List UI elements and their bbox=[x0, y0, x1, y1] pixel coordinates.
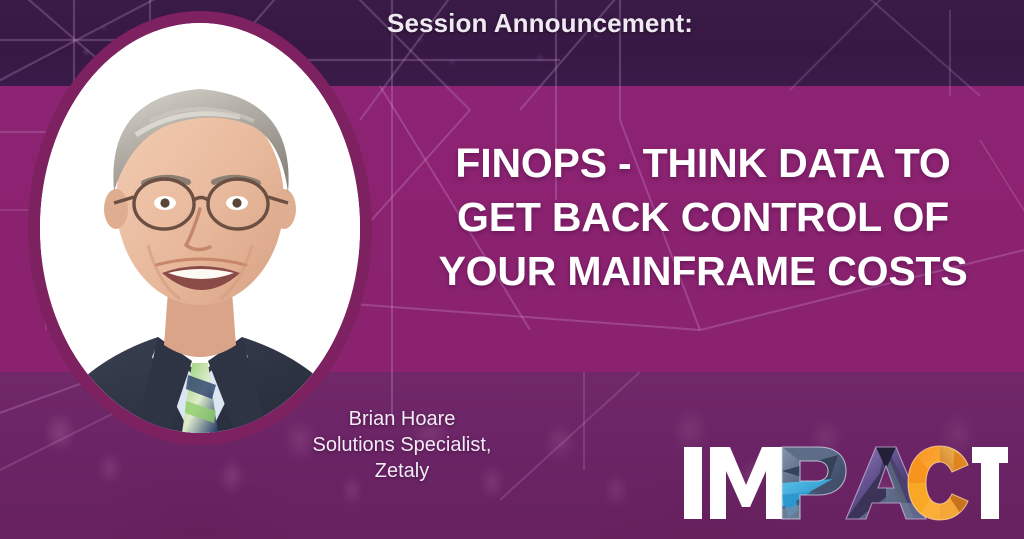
title-line-1: FINOPS - THINK DATA TO bbox=[396, 136, 1010, 190]
speaker-credit: Brian Hoare Solutions Specialist, Zetaly bbox=[268, 406, 536, 484]
logo-letter-i bbox=[684, 447, 702, 519]
page-title: FINOPS - THINK DATA TO GET BACK CONTROL … bbox=[396, 136, 1010, 298]
speaker-portrait bbox=[28, 11, 372, 445]
session-announcement-banner: Session Announcement: FINOPS - THINK DAT… bbox=[0, 0, 1024, 539]
title-line-3: YOUR MAINFRAME COSTS bbox=[396, 244, 1010, 298]
title-line-2: GET BACK CONTROL OF bbox=[396, 190, 1010, 244]
logo-letter-m bbox=[710, 447, 782, 519]
headshot-illustration bbox=[40, 23, 360, 433]
speaker-name: Brian Hoare bbox=[268, 406, 536, 432]
speaker-company: Zetaly bbox=[268, 458, 536, 484]
impact-logo bbox=[678, 441, 1008, 525]
speaker-role: Solutions Specialist, bbox=[268, 432, 536, 458]
portrait-image-clip bbox=[40, 23, 360, 433]
logo-letter-t bbox=[972, 447, 1008, 519]
session-label: Session Announcement: bbox=[340, 6, 740, 40]
